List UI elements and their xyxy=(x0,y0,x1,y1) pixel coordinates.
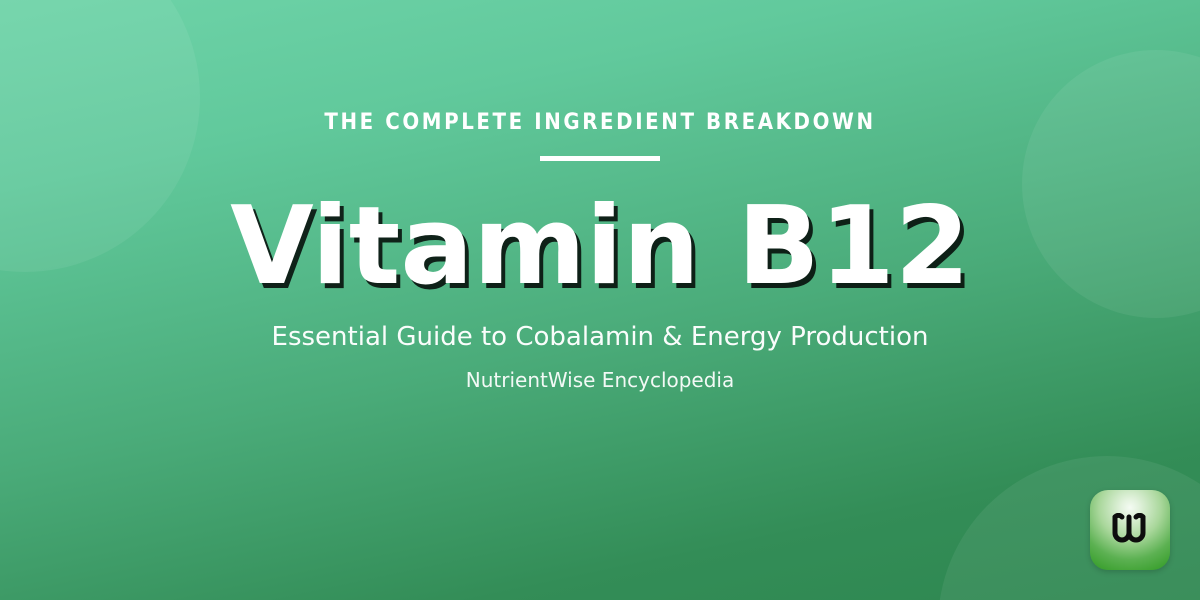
eyebrow-divider xyxy=(540,156,660,161)
nutrientwise-logo-badge xyxy=(1090,490,1170,570)
nutrientwise-w-icon xyxy=(1108,513,1152,547)
page-title: Vitamin B12 xyxy=(230,191,970,303)
publisher-byline: NutrientWise Encyclopedia xyxy=(466,368,735,392)
hero-content: THE COMPLETE INGREDIENT BREAKDOWN Vitami… xyxy=(0,0,1200,600)
eyebrow-label: THE COMPLETE INGREDIENT BREAKDOWN xyxy=(324,112,875,134)
page-subtitle: Essential Guide to Cobalamin & Energy Pr… xyxy=(272,322,929,353)
hero-banner: THE COMPLETE INGREDIENT BREAKDOWN Vitami… xyxy=(0,0,1200,600)
